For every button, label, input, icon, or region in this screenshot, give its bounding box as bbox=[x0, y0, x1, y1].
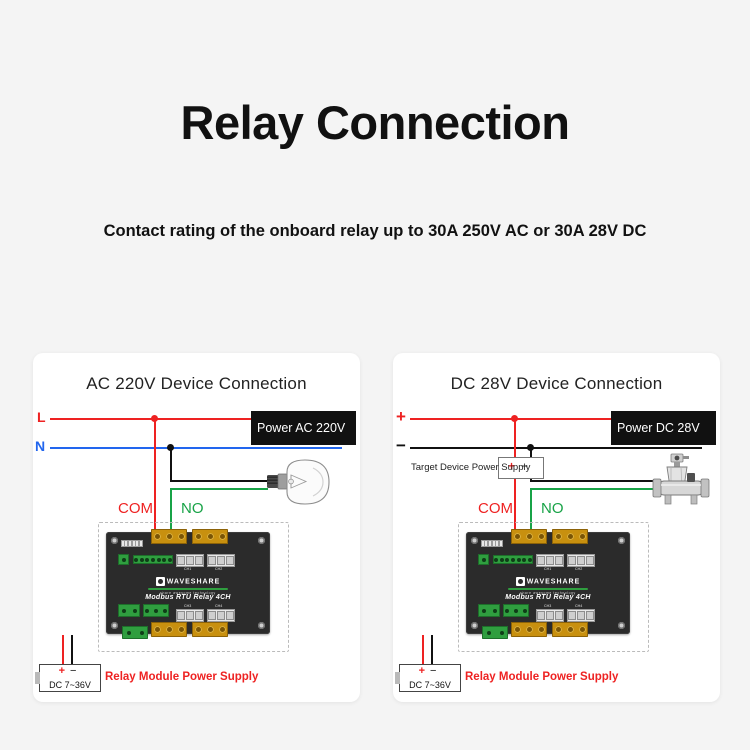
logo-underline bbox=[148, 588, 228, 590]
board-model-name: Modbus RTU Relay 4CH bbox=[466, 594, 630, 601]
wire-neutral-drop bbox=[170, 447, 172, 480]
waveshare-logo: WAVESHARE share awesome technology bbox=[106, 573, 270, 595]
screw-hole bbox=[111, 537, 118, 544]
relay-can-ch3 bbox=[536, 609, 564, 622]
channel-label-ch1: CH1 bbox=[184, 567, 191, 571]
junction-dot-neutral bbox=[167, 444, 174, 451]
dc-power-terminal bbox=[122, 626, 148, 639]
brand-name: WAVESHARE bbox=[167, 578, 221, 585]
terminal-block-ch1 bbox=[511, 529, 547, 544]
channel-label-ch3: CH3 bbox=[184, 604, 191, 608]
screw-hole bbox=[258, 622, 265, 629]
junction-dot-live bbox=[151, 415, 158, 422]
terminal-block-ch3 bbox=[151, 622, 187, 637]
relay-connection-infographic: Relay Connection Contact rating of the o… bbox=[0, 0, 750, 750]
wire-psu-negative bbox=[431, 635, 433, 666]
rs485-terminal bbox=[118, 604, 140, 617]
relay-can-ch2 bbox=[567, 554, 595, 567]
psu-minus: − bbox=[70, 665, 81, 677]
screw-hole bbox=[471, 537, 478, 544]
waveshare-mark-icon bbox=[156, 577, 165, 586]
relay-can-ch4 bbox=[567, 609, 595, 622]
relay-can-ch2 bbox=[207, 554, 235, 567]
diagram-dc: + − Power DC 28V +− Target Device Power … bbox=[393, 353, 720, 702]
pin-header-top bbox=[121, 540, 143, 547]
power-terminal-header bbox=[143, 604, 169, 617]
channel-label-ch2: CH2 bbox=[215, 567, 222, 571]
screw-hole bbox=[111, 622, 118, 629]
wire-live-to-com bbox=[154, 418, 156, 531]
waveshare-mark-icon bbox=[516, 577, 525, 586]
wire-neutral-horizontal bbox=[50, 447, 342, 449]
wire-no-to-valve bbox=[530, 488, 655, 490]
relay-can-ch3 bbox=[176, 609, 204, 622]
led-indicator-row bbox=[133, 555, 173, 564]
diagram-ac: L N Power AC 220V COM NO bbox=[33, 353, 360, 702]
relay-can-ch4 bbox=[207, 609, 235, 622]
terminal-block-ch4 bbox=[192, 622, 228, 637]
psu-polarity: +− bbox=[400, 666, 460, 677]
junction-dot-positive bbox=[511, 415, 518, 422]
light-bulb-icon bbox=[261, 458, 351, 506]
label-com-dc: COM bbox=[478, 500, 513, 517]
target-psu-label: Target Device Power Supply bbox=[411, 462, 530, 473]
relay-can-ch1 bbox=[176, 554, 204, 567]
psu-plus: + bbox=[419, 665, 430, 677]
power-tag-dc: Power DC 28V bbox=[611, 411, 716, 445]
power-tag-ac: Power AC 220V bbox=[251, 411, 356, 445]
psu-plus: + bbox=[59, 665, 70, 677]
channel-label-ch4: CH4 bbox=[575, 604, 582, 608]
channel-label-ch3: CH3 bbox=[544, 604, 551, 608]
screw-hole bbox=[618, 622, 625, 629]
waveshare-logo: WAVESHARE share awesome technology bbox=[466, 573, 630, 595]
label-line-minus: − bbox=[396, 436, 406, 456]
terminal-block-ch2 bbox=[192, 529, 228, 544]
label-line-L: L bbox=[37, 409, 46, 425]
wire-negative-to-valve bbox=[530, 480, 655, 482]
wire-negative-horizontal bbox=[410, 447, 702, 449]
solenoid-valve-icon bbox=[651, 451, 713, 507]
label-line-plus: + bbox=[396, 407, 406, 427]
label-line-N: N bbox=[35, 438, 45, 454]
page-subtitle: Contact rating of the onboard relay up t… bbox=[0, 222, 750, 241]
screw-hole bbox=[258, 537, 265, 544]
terminal-block-ch4 bbox=[552, 622, 588, 637]
relay-board-dc: CH1 CH2 WAVESHARE share awesome technolo… bbox=[466, 532, 630, 634]
board-model-name: Modbus RTU Relay 4CH bbox=[106, 594, 270, 601]
relay-power-supply-dc: +− DC 7~36V bbox=[399, 664, 461, 692]
channel-label-ch4: CH4 bbox=[215, 604, 222, 608]
led-indicator-row bbox=[493, 555, 533, 564]
pin-header-top bbox=[481, 540, 503, 547]
brand-name: WAVESHARE bbox=[527, 578, 581, 585]
wire-no-to-bulb bbox=[170, 488, 268, 490]
wire-psu-positive bbox=[62, 635, 64, 666]
rs485-terminal bbox=[478, 604, 500, 617]
dc-power-terminal bbox=[482, 626, 508, 639]
psu-voltage: DC 7~36V bbox=[40, 680, 100, 690]
label-no-dc: NO bbox=[541, 500, 564, 517]
label-no-ac: NO bbox=[181, 500, 204, 517]
terminal-block-ch3 bbox=[511, 622, 547, 637]
relay-psu-label-dc: Relay Module Power Supply bbox=[465, 671, 618, 683]
wire-neutral-to-bulb bbox=[170, 480, 268, 482]
junction-dot-negative bbox=[527, 444, 534, 451]
relay-psu-label-ac: Relay Module Power Supply bbox=[105, 671, 258, 683]
relay-can-ch1 bbox=[536, 554, 564, 567]
reset-button[interactable] bbox=[478, 554, 489, 565]
card-dc-28v: DC 28V Device Connection + − Power DC 28… bbox=[393, 353, 720, 702]
psu-minus: − bbox=[430, 665, 441, 677]
page-title: Relay Connection bbox=[0, 95, 750, 150]
psu-polarity: +− bbox=[40, 666, 100, 677]
label-com-ac: COM bbox=[118, 500, 153, 517]
terminal-block-ch1 bbox=[151, 529, 187, 544]
relay-board-ac: CH1 CH2 WAVESHARE share awesome technolo… bbox=[106, 532, 270, 634]
logo-underline bbox=[508, 588, 588, 590]
relay-power-supply-ac: +− DC 7~36V bbox=[39, 664, 101, 692]
channel-label-ch2: CH2 bbox=[575, 567, 582, 571]
channel-label-ch1: CH1 bbox=[544, 567, 551, 571]
card-ac-220v: AC 220V Device Connection L N Power AC 2… bbox=[33, 353, 360, 702]
terminal-block-ch2 bbox=[552, 529, 588, 544]
wire-psu-negative bbox=[71, 635, 73, 666]
wire-psu-positive bbox=[422, 635, 424, 666]
screw-hole bbox=[471, 622, 478, 629]
power-terminal-header bbox=[503, 604, 529, 617]
screw-hole bbox=[618, 537, 625, 544]
psu-voltage: DC 7~36V bbox=[400, 680, 460, 690]
reset-button[interactable] bbox=[118, 554, 129, 565]
